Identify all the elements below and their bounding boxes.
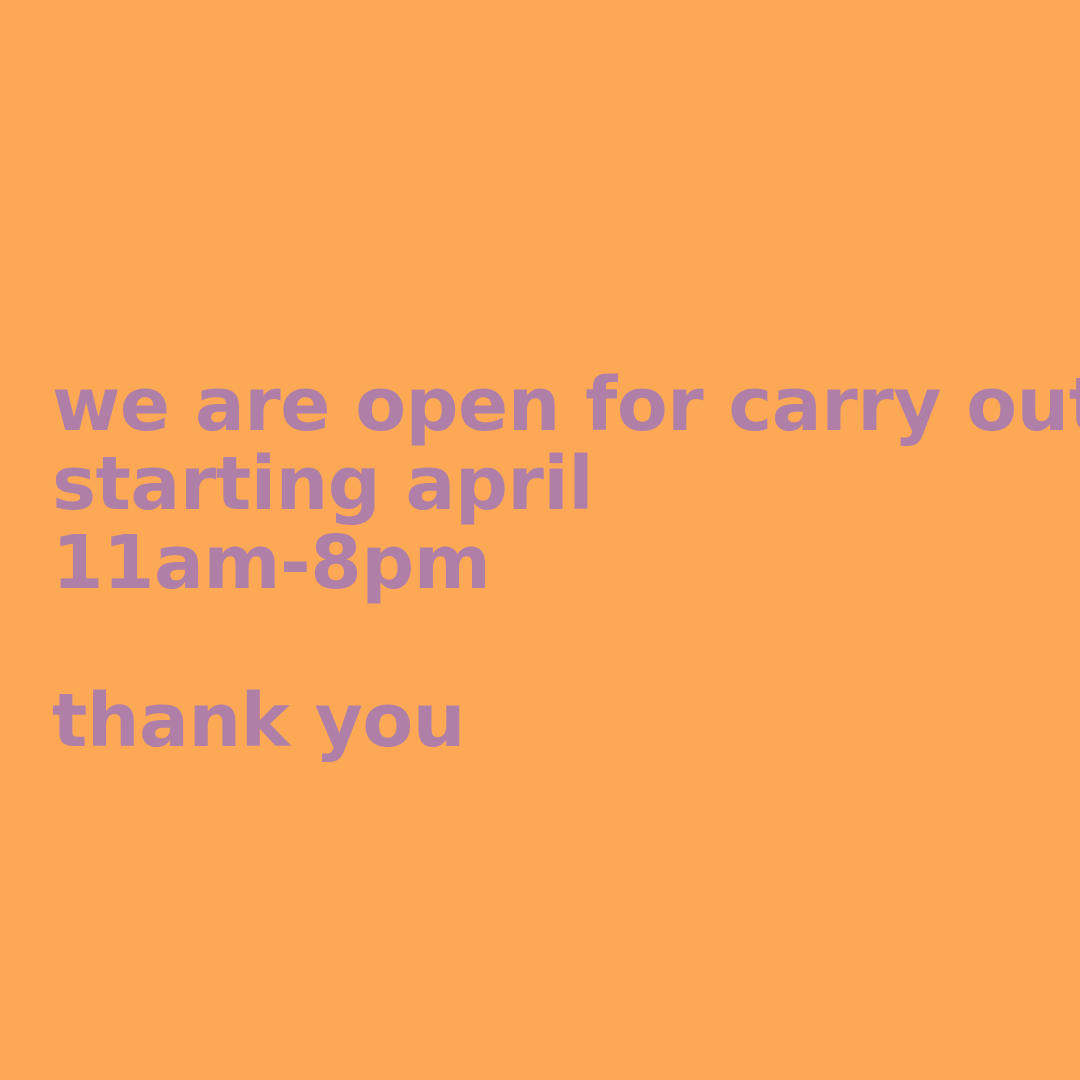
announcement-hours: 11am-8pm (52, 524, 1012, 603)
announcement-closing: thank you (52, 682, 1012, 761)
announcement-headline: we are open for carry out (52, 366, 1012, 445)
announcement-blank-line (52, 603, 1012, 682)
announcement-start-date: starting april (52, 445, 1012, 524)
announcement-card: we are open for carry out starting april… (0, 0, 1080, 1080)
announcement-message-block: we are open for carry out starting april… (52, 366, 1012, 761)
